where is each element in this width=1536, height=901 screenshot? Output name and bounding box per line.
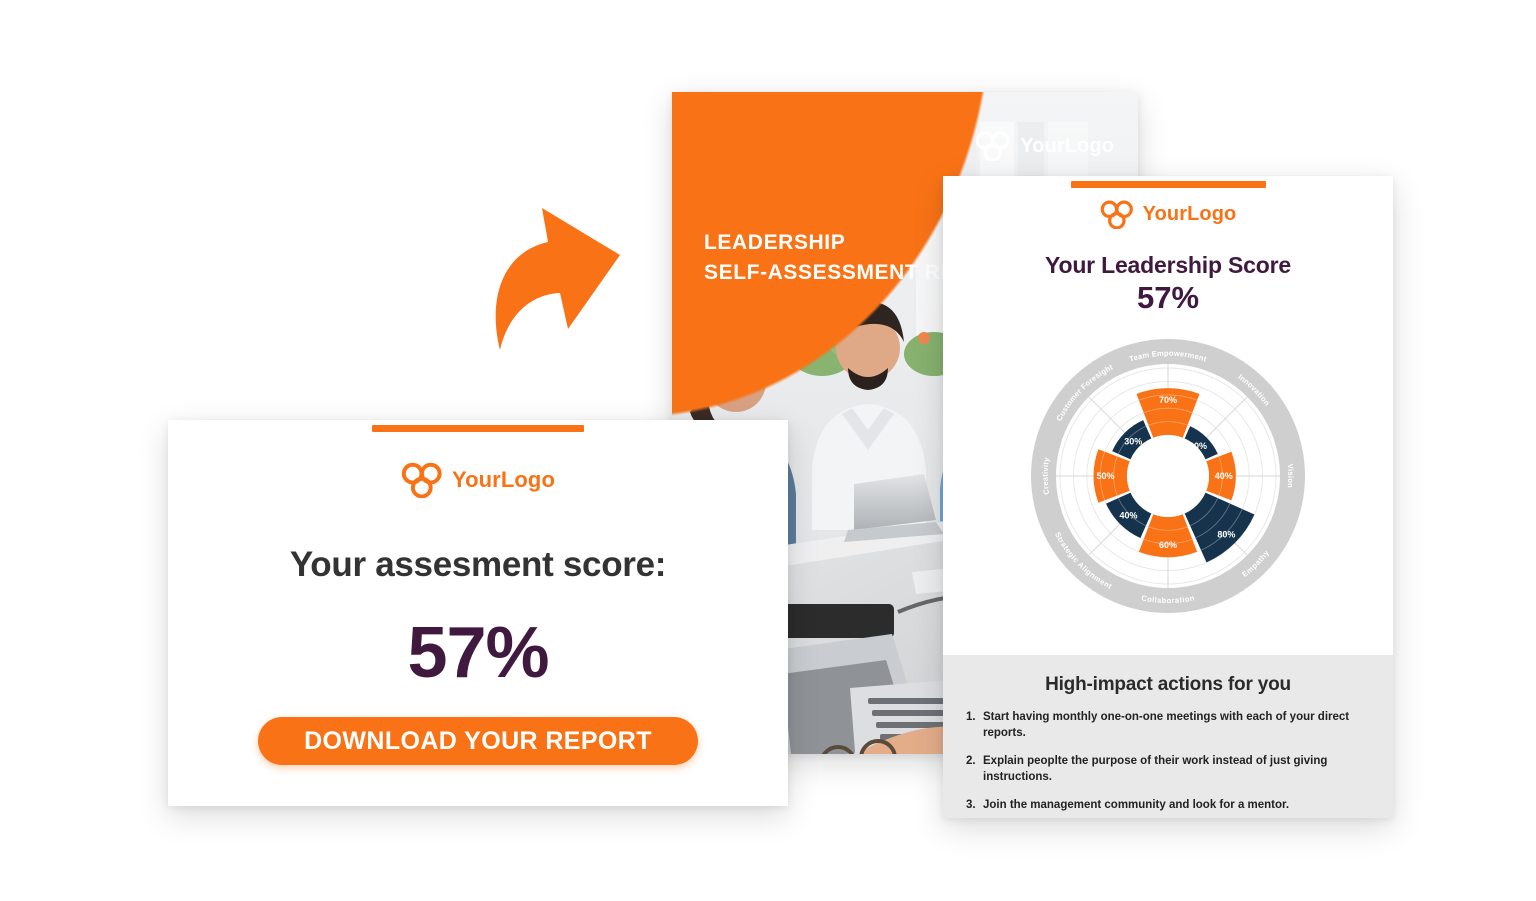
results-accent-bar	[1071, 181, 1266, 188]
cover-logo-text: YourLogo	[1020, 135, 1114, 158]
sector-category-label: Vision	[1286, 463, 1296, 488]
high-impact-action-item: Join the management community and look f…	[983, 798, 1371, 814]
cover-logo: YourLogo	[975, 131, 1114, 161]
sector-value-label: 50%	[1096, 471, 1114, 481]
assessment-score-value: 57%	[168, 612, 788, 694]
results-logo-text: YourLogo	[1143, 203, 1237, 226]
sector-value-label: 60%	[1159, 540, 1177, 550]
sector-value-label: 40%	[1120, 510, 1138, 520]
high-impact-action-list: Start having monthly one-on-one meetings…	[943, 710, 1393, 814]
yourlogo-trefoil-icon	[1100, 200, 1134, 229]
score-accent-bar	[372, 425, 584, 432]
sector-value-label: 30%	[1124, 436, 1142, 446]
score-card-logo: YourLogo	[168, 462, 788, 498]
preview-stage: YourLogo LEADERSHIP SELF-ASSESSMENT REPO…	[0, 0, 1536, 901]
results-title: Your Leadership Score	[943, 252, 1393, 279]
high-impact-panel: High-impact actions for you Start having…	[943, 655, 1393, 818]
radial-bar-chart[interactable]: 70%20%40%80%60%40%50%30%Team Empowerment…	[1018, 326, 1318, 626]
results-score: 57%	[943, 280, 1393, 316]
curved-arrow-icon	[470, 198, 640, 363]
yourlogo-trefoil-icon	[975, 131, 1011, 161]
results-card[interactable]: YourLogo Your Leadership Score 57% 70%20…	[943, 176, 1393, 818]
sector-value-label: 70%	[1159, 395, 1177, 405]
high-impact-action-item: Start having monthly one-on-one meetings…	[983, 710, 1371, 741]
assessment-heading: Your assesment score:	[168, 545, 788, 585]
high-impact-action-item: Explain peoplte the purpose of their wor…	[983, 754, 1371, 785]
assessment-score-card[interactable]: YourLogo Your assesment score: 57% DOWNL…	[168, 420, 788, 806]
results-logo: YourLogo	[943, 200, 1393, 229]
high-impact-title: High-impact actions for you	[943, 655, 1393, 696]
score-card-logo-text: YourLogo	[452, 467, 555, 493]
sector-value-label: 40%	[1215, 471, 1233, 481]
yourlogo-trefoil-icon	[401, 462, 443, 498]
sector-value-label: 80%	[1217, 529, 1235, 539]
download-report-button[interactable]: DOWNLOAD YOUR REPORT	[258, 717, 698, 765]
